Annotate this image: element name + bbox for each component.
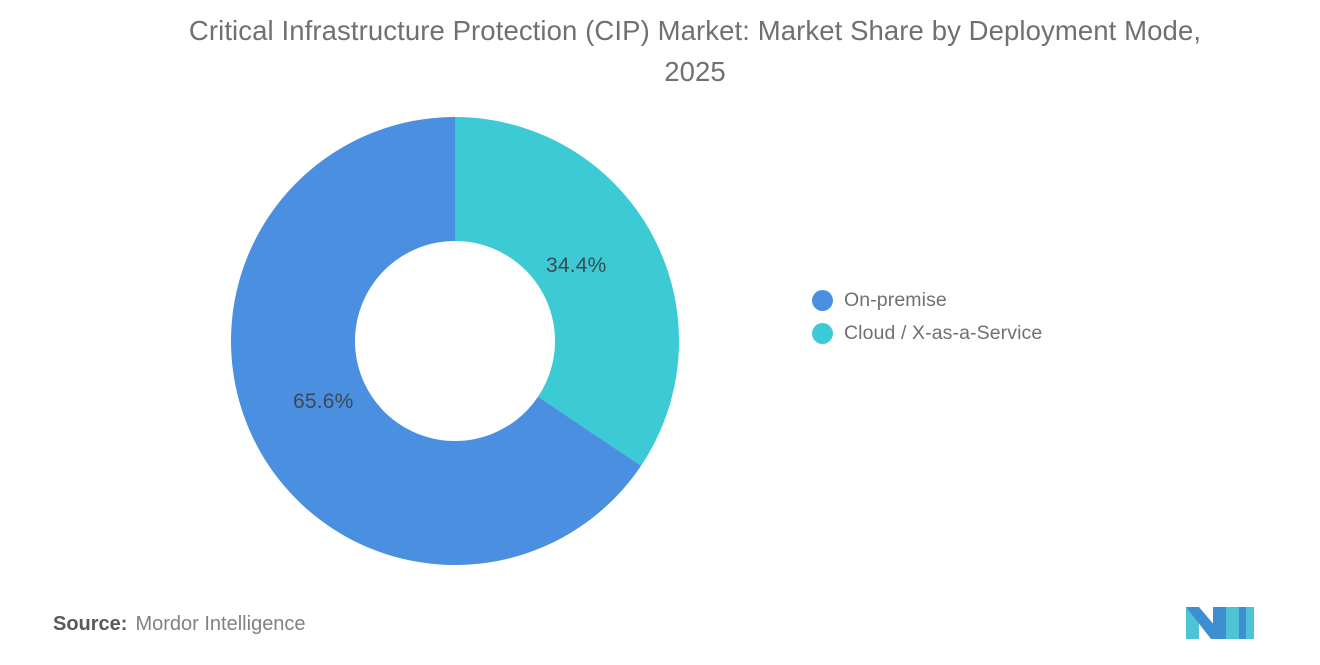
legend-item-on-premise[interactable]: On-premise xyxy=(812,284,1042,317)
slice-label-cloud: 34.4% xyxy=(546,254,607,278)
chart-legend: On-premise Cloud / X-as-a-Service xyxy=(812,284,1042,350)
legend-swatch-icon-cloud xyxy=(812,323,833,344)
logo-svg xyxy=(1186,599,1254,639)
legend-item-cloud[interactable]: Cloud / X-as-a-Service xyxy=(812,317,1042,350)
legend-swatch-icon-on-premise xyxy=(812,290,833,311)
donut-chart xyxy=(231,117,679,565)
slice-label-on-premise: 65.6% xyxy=(293,390,354,414)
source-label: Source: xyxy=(53,613,127,635)
source-attribution: Source:Mordor Intelligence xyxy=(53,613,306,636)
legend-label-on-premise: On-premise xyxy=(844,289,947,312)
source-value: Mordor Intelligence xyxy=(135,613,305,635)
donut-hole xyxy=(355,241,555,441)
chart-container: Critical Infrastructure Protection (CIP)… xyxy=(0,0,1320,665)
chart-title: Critical Infrastructure Protection (CIP)… xyxy=(160,10,1230,92)
mordor-intelligence-logo-icon xyxy=(1186,599,1254,639)
legend-label-cloud: Cloud / X-as-a-Service xyxy=(844,322,1042,345)
donut-svg xyxy=(231,117,679,565)
